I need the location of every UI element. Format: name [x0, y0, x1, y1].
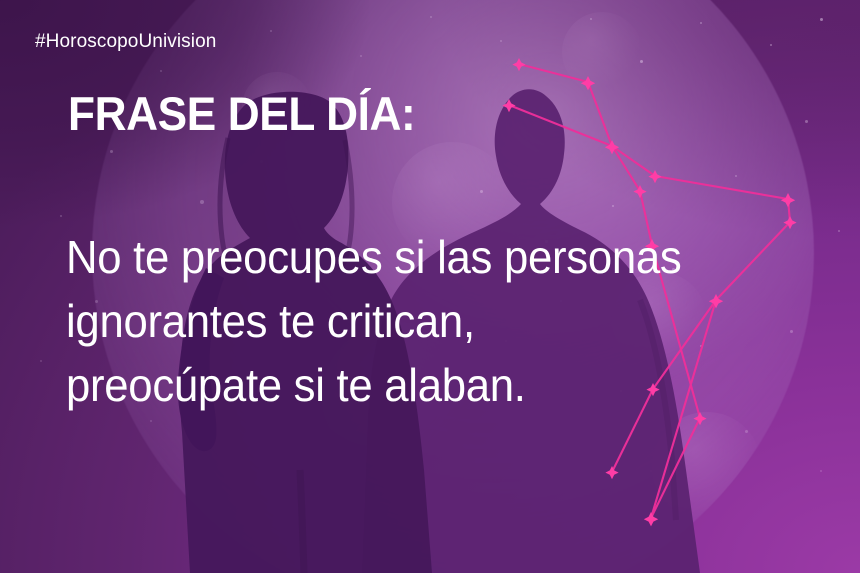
quote-text: No te preocupes si las personas ignorant…: [66, 225, 817, 417]
hashtag-label: #HoroscopoUnivision: [35, 31, 216, 53]
quote-line-1: No te preocupes si las personas: [66, 225, 817, 289]
quote-line-3: preocúpate si te alaban.: [66, 353, 817, 417]
page-title: FRASE DEL DÍA:: [68, 86, 415, 141]
horoscope-quote-card: #HoroscopoUnivision FRASE DEL DÍA: No te…: [0, 0, 860, 573]
text-content: #HoroscopoUnivision FRASE DEL DÍA: No te…: [0, 0, 860, 573]
quote-line-2: ignorantes te critican,: [66, 289, 817, 353]
